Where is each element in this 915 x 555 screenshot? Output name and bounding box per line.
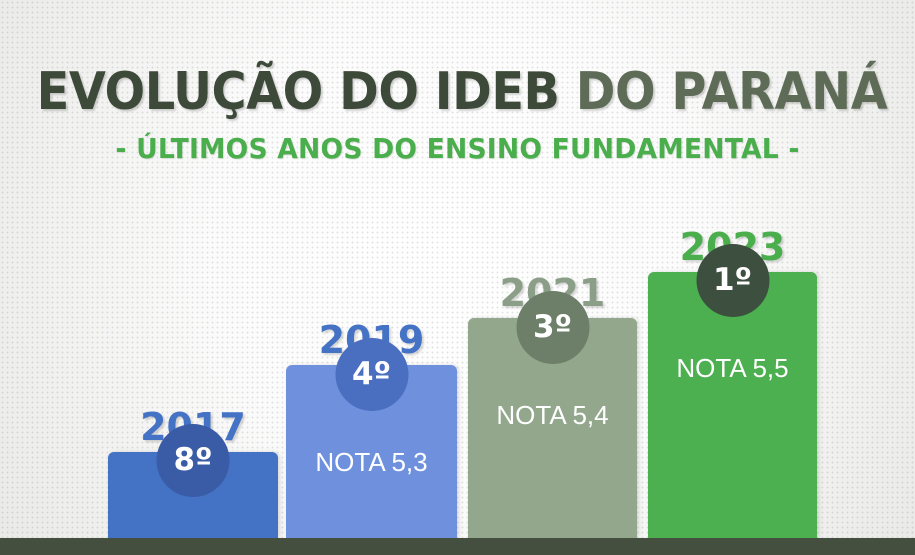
rank-badge: 1º [696,244,769,317]
page-subtitle: - ÚLTIMOS ANOS DO ENSINO FUNDAMENTAL - [23,132,892,165]
bar-value-label: NOTA 5,3 [286,447,457,478]
rank-badge: 3º [516,291,589,364]
rank-badge: 4º [335,338,408,411]
bar-group-2021: 20213ºNOTA 5,4 [468,266,637,538]
title-block: EVOLUÇÃO DO IDEB DO PARANÁ - ÚLTIMOS ANO… [0,66,915,165]
infographic-canvas: EVOLUÇÃO DO IDEB DO PARANÁ - ÚLTIMOS ANO… [0,0,915,555]
rank-badge-label: 4º [352,359,391,390]
bar-group-2019: 20194ºNOTA 5,3 [286,313,457,538]
chart-baseline [0,538,915,555]
bar-group-2023: 20231ºNOTA 5,5 [648,220,817,538]
page-title: EVOLUÇÃO DO IDEB DO PARANÁ [37,66,879,118]
rank-badge-label: 3º [533,312,572,343]
title-part-primary: EVOLUÇÃO DO IDEB [37,62,576,122]
bar-value-label: NOTA 5,4 [468,400,637,431]
bar-value-label: NOTA 5,5 [648,353,817,384]
bar-group-2017: 20178ºNOTA 4,9 [108,400,278,538]
rank-badge-label: 1º [713,265,752,296]
rank-badge-label: 8º [173,445,212,476]
rank-badge: 8º [157,424,230,497]
title-part-secondary: DO PARANÁ [576,62,888,122]
